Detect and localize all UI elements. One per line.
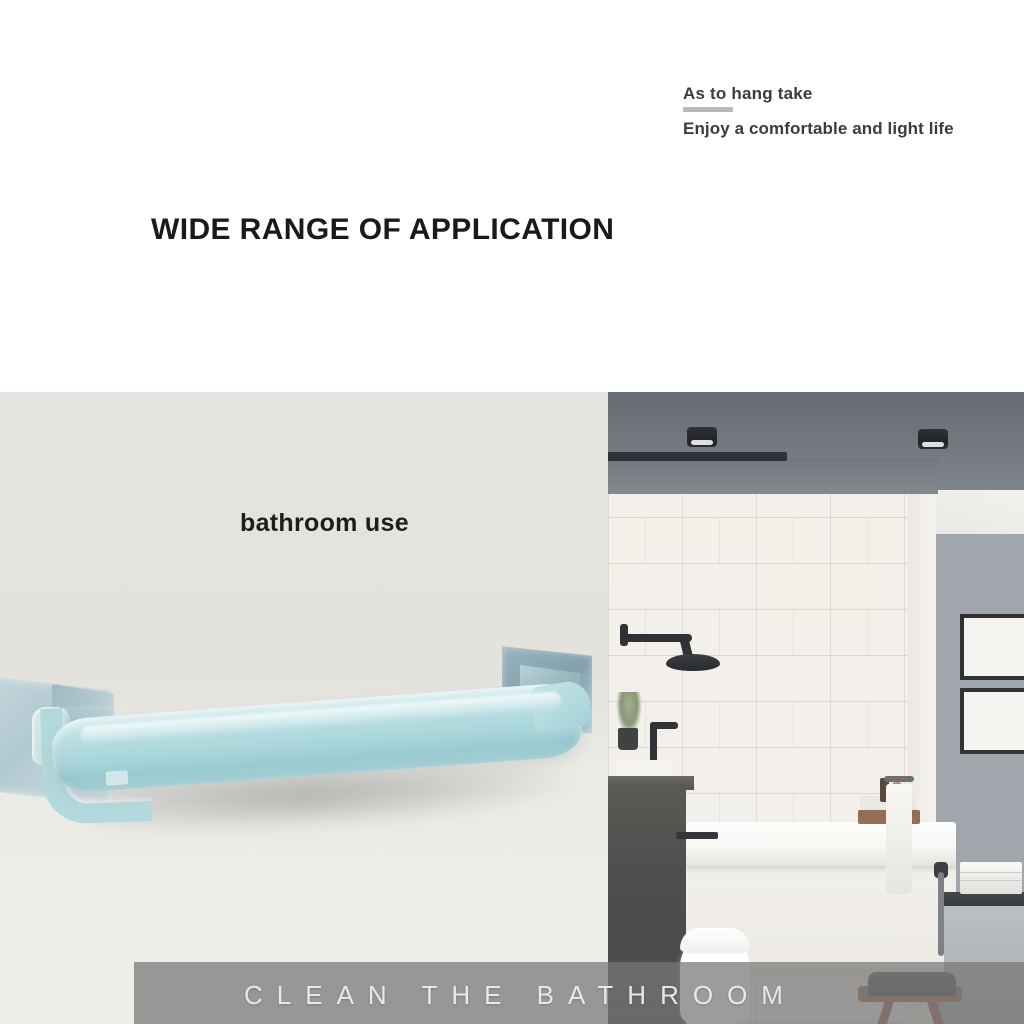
product-panel: bathroom use	[0, 392, 612, 1024]
ceiling-spotlight-icon	[918, 429, 948, 449]
photo-ceiling-beam	[608, 452, 787, 461]
tagline-line-2: Enjoy a comfortable and light life	[683, 118, 993, 139]
top-white-section: As to hang take Enjoy a comfortable and …	[0, 0, 1024, 392]
tagline-line-1: As to hang take	[683, 84, 993, 104]
photo-ceiling-soffit	[608, 458, 938, 494]
hanging-towel	[886, 784, 912, 894]
toilet-lid	[680, 928, 750, 954]
page-title: WIDE RANGE OF APPLICATION	[151, 213, 614, 247]
tagline-underline-rule	[683, 107, 733, 112]
folded-towels	[960, 862, 1022, 894]
potted-plant-pot	[618, 728, 638, 750]
towel-bar-product	[0, 647, 614, 877]
ceiling-spotlight-icon	[687, 427, 717, 447]
showcase-section: bathroom use	[0, 392, 1024, 1024]
side-counter-top	[944, 892, 1024, 906]
vanity-drawer-handle	[676, 832, 718, 839]
banner-text: CLEAN THE BATHROOM	[134, 962, 1024, 1024]
scene-label: bathroom use	[240, 509, 409, 538]
towel-bar-label-badge	[106, 770, 129, 786]
bathroom-photo	[608, 392, 1024, 1024]
bathtub	[686, 822, 956, 866]
towel-rail	[884, 776, 914, 782]
product-marketing-image: As to hang take Enjoy a comfortable and …	[0, 0, 1024, 1024]
framed-bird-print	[960, 688, 1024, 754]
tagline-block: As to hang take Enjoy a comfortable and …	[683, 84, 993, 139]
basin-faucet-spout	[650, 722, 678, 729]
rain-shower-head	[666, 654, 720, 671]
framed-bird-print	[960, 614, 1024, 680]
